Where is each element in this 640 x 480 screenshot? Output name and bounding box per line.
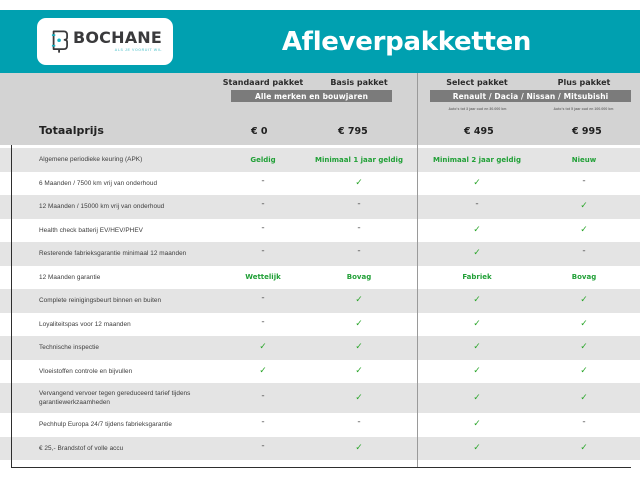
table-row: 12 Maanden garantieWettelijkBovagFabriek… (0, 266, 640, 290)
check-icon: ✓ (580, 320, 588, 329)
check-icon: ✓ (473, 444, 481, 453)
dash-icon: - (261, 247, 264, 256)
feature-cell: ✓ (213, 360, 313, 384)
feature-cell: ✓ (534, 219, 634, 243)
feature-label: € 25,- Brandstof of volle accu (39, 444, 239, 453)
feature-label: Resterende fabrieksgarantie minimaal 12 … (39, 249, 239, 258)
feature-cell: - (213, 437, 313, 461)
dash-icon: - (357, 418, 360, 427)
feature-cell: ✓ (427, 437, 527, 461)
package-name-plus: Plus pakket (534, 78, 634, 87)
feature-cell: ✓ (534, 360, 634, 384)
check-icon: ✓ (473, 420, 481, 429)
feature-cell: - (213, 242, 313, 266)
feature-cell: ✓ (309, 172, 409, 196)
feature-cell: - (534, 242, 634, 266)
feature-cell: ✓ (427, 336, 527, 360)
cell-text: Wettelijk (245, 273, 281, 281)
group-label-merken-renault: Renault / Dacia / Nissan / Mitsubishi (430, 90, 631, 102)
table-row: 12 Maanden / 15000 km vrij van onderhoud… (0, 195, 640, 219)
check-icon: ✓ (355, 179, 363, 188)
table-row: Loyaliteitspas voor 12 maanden-✓✓✓ (0, 313, 640, 337)
feature-cell: Bovag (309, 266, 409, 290)
feature-label: 12 Maanden / 15000 km vrij van onderhoud (39, 202, 239, 211)
check-icon: ✓ (580, 394, 588, 403)
feature-label: Technische inspectie (39, 343, 239, 352)
check-icon: ✓ (473, 343, 481, 352)
feature-cell: - (534, 172, 634, 196)
table-row: Vervangend vervoer tegen gereduceerd tar… (0, 383, 640, 413)
total-price-label: Totaalprijs (39, 124, 104, 137)
feature-cell: Fabriek (427, 266, 527, 290)
dash-icon: - (475, 200, 478, 209)
check-icon: ✓ (473, 179, 481, 188)
feature-label: 12 Maanden garantie (39, 273, 239, 282)
feature-cell: - (213, 219, 313, 243)
feature-cell: ✓ (309, 289, 409, 313)
dash-icon: - (261, 224, 264, 233)
feature-cell: ✓ (534, 313, 634, 337)
page-header: BOCHANE ALS JE VOORUIT WIL Afleverpakket… (0, 10, 640, 73)
dash-icon: - (357, 224, 360, 233)
feature-label: Loyaliteitspas voor 12 maanden (39, 320, 239, 329)
feature-cell: ✓ (427, 289, 527, 313)
dash-icon: - (582, 177, 585, 186)
package-name-basis: Basis pakket (309, 78, 409, 87)
feature-cell: - (309, 219, 409, 243)
feature-cell: ✓ (309, 336, 409, 360)
logo-tagline: ALS JE VOORUIT WIL (115, 49, 162, 53)
check-icon: ✓ (580, 296, 588, 305)
feature-cell: Nieuw (534, 148, 634, 172)
feature-label: Vloeistoffen controle en bijvullen (39, 367, 239, 376)
feature-cell: Wettelijk (213, 266, 313, 290)
feature-cell: ✓ (309, 383, 409, 413)
check-icon: ✓ (473, 394, 481, 403)
feature-cell: ✓ (534, 336, 634, 360)
feature-cell: - (309, 195, 409, 219)
feature-comparison-table: Algemene periodieke keuring (APK)GeldigM… (0, 148, 640, 460)
group-label-alle-merken: Alle merken en bouwjaren (231, 90, 392, 102)
check-icon: ✓ (580, 444, 588, 453)
feature-cell: ✓ (427, 383, 527, 413)
table-bottom-border (11, 467, 631, 468)
feature-cell: ✓ (427, 219, 527, 243)
cell-text: Nieuw (572, 156, 596, 164)
check-icon: ✓ (473, 296, 481, 305)
cell-text: Bovag (572, 273, 596, 281)
feature-cell: - (213, 172, 313, 196)
table-left-border (11, 145, 12, 468)
feature-cell: ✓ (427, 413, 527, 437)
table-row: Complete reinigingsbeurt binnen en buite… (0, 289, 640, 313)
feature-cell: ✓ (309, 437, 409, 461)
afleverpakketten-page: BOCHANE ALS JE VOORUIT WIL Afleverpakket… (0, 0, 640, 480)
feature-cell: ✓ (427, 242, 527, 266)
feature-cell: ✓ (534, 289, 634, 313)
page-title: Afleverpakketten (173, 10, 640, 73)
check-icon: ✓ (355, 367, 363, 376)
package-name-standaard: Standaard pakket (213, 78, 313, 87)
dash-icon: - (357, 200, 360, 209)
feature-cell: - (213, 289, 313, 313)
cell-text: Minimaal 1 jaar geldig (315, 156, 403, 164)
column-group-divider (417, 73, 418, 468)
total-price-row: Totaalprijs € 0 € 795 € 495 € 995 (0, 118, 640, 145)
cell-text: Fabriek (462, 273, 491, 281)
cell-text: Geldig (250, 156, 275, 164)
feature-cell: - (427, 195, 527, 219)
table-row: Resterende fabrieksgarantie minimaal 12 … (0, 242, 640, 266)
package-note-plus: Auto's tot 5 jaar oud en 100.000 km (533, 104, 634, 113)
total-price-plus: € 995 (572, 125, 602, 138)
check-icon: ✓ (473, 367, 481, 376)
total-price-basis: € 795 (338, 125, 368, 138)
dash-icon: - (261, 392, 264, 401)
bochane-logo: BOCHANE ALS JE VOORUIT WIL (37, 18, 173, 65)
feature-label: Vervangend vervoer tegen gereduceerd tar… (39, 389, 239, 408)
feature-cell: ✓ (534, 383, 634, 413)
feature-label: Pechhulp Europa 24/7 tijdens fabrieksgar… (39, 420, 239, 429)
feature-cell: - (309, 242, 409, 266)
check-icon: ✓ (473, 226, 481, 235)
feature-label: Health check batterij EV/HEV/PHEV (39, 226, 239, 235)
check-icon: ✓ (355, 394, 363, 403)
check-icon: ✓ (355, 343, 363, 352)
dash-icon: - (261, 200, 264, 209)
dash-icon: - (582, 418, 585, 427)
package-name-select: Select pakket (427, 78, 527, 87)
feature-cell: - (309, 413, 409, 437)
feature-cell: ✓ (534, 195, 634, 219)
feature-cell: Minimaal 2 jaar geldig (427, 148, 527, 172)
check-icon: ✓ (473, 320, 481, 329)
dash-icon: - (261, 442, 264, 451)
check-icon: ✓ (580, 226, 588, 235)
bochane-b-mark-icon (50, 28, 69, 55)
total-price-standaard: € 0 (251, 125, 268, 138)
dash-icon: - (261, 318, 264, 327)
feature-cell: ✓ (427, 172, 527, 196)
check-icon: ✓ (259, 367, 267, 376)
feature-cell: ✓ (427, 360, 527, 384)
feature-cell: - (213, 195, 313, 219)
dash-icon: - (261, 294, 264, 303)
table-row: Vloeistoffen controle en bijvullen✓✓✓✓ (0, 360, 640, 384)
table-row: 6 Maanden / 7500 km vrij van onderhoud-✓… (0, 172, 640, 196)
feature-label: Complete reinigingsbeurt binnen en buite… (39, 296, 239, 305)
dash-icon: - (261, 177, 264, 186)
check-icon: ✓ (580, 343, 588, 352)
feature-cell: Bovag (534, 266, 634, 290)
check-icon: ✓ (473, 249, 481, 258)
feature-cell: ✓ (213, 336, 313, 360)
feature-cell: - (534, 413, 634, 437)
check-icon: ✓ (580, 367, 588, 376)
cell-text: Minimaal 2 jaar geldig (433, 156, 521, 164)
table-row: Pechhulp Europa 24/7 tijdens fabrieksgar… (0, 413, 640, 437)
feature-cell: - (213, 383, 313, 413)
table-row: Health check batterij EV/HEV/PHEV--✓✓ (0, 219, 640, 243)
logo-wordmark: BOCHANE (73, 30, 162, 46)
feature-cell: ✓ (309, 313, 409, 337)
check-icon: ✓ (355, 444, 363, 453)
table-row: € 25,- Brandstof of volle accu-✓✓✓ (0, 437, 640, 461)
feature-cell: ✓ (534, 437, 634, 461)
feature-cell: ✓ (309, 360, 409, 384)
package-note-select: Auto's tot 3 jaar oud en 30.000 km (427, 104, 528, 113)
cell-text: Bovag (347, 273, 371, 281)
check-icon: ✓ (355, 320, 363, 329)
feature-cell: - (213, 413, 313, 437)
feature-label: 6 Maanden / 7500 km vrij van onderhoud (39, 179, 239, 188)
table-row: Algemene periodieke keuring (APK)GeldigM… (0, 148, 640, 172)
feature-cell: - (213, 313, 313, 337)
feature-cell: ✓ (427, 313, 527, 337)
check-icon: ✓ (259, 343, 267, 352)
package-header-band: Standaard pakket Basis pakket Select pak… (0, 73, 640, 118)
check-icon: ✓ (355, 296, 363, 305)
dash-icon: - (582, 247, 585, 256)
feature-cell: Geldig (213, 148, 313, 172)
feature-cell: Minimaal 1 jaar geldig (309, 148, 409, 172)
dash-icon: - (357, 247, 360, 256)
table-row: Technische inspectie✓✓✓✓ (0, 336, 640, 360)
check-icon: ✓ (580, 202, 588, 211)
dash-icon: - (261, 418, 264, 427)
feature-label: Algemene periodieke keuring (APK) (39, 155, 239, 164)
total-price-select: € 495 (464, 125, 494, 138)
